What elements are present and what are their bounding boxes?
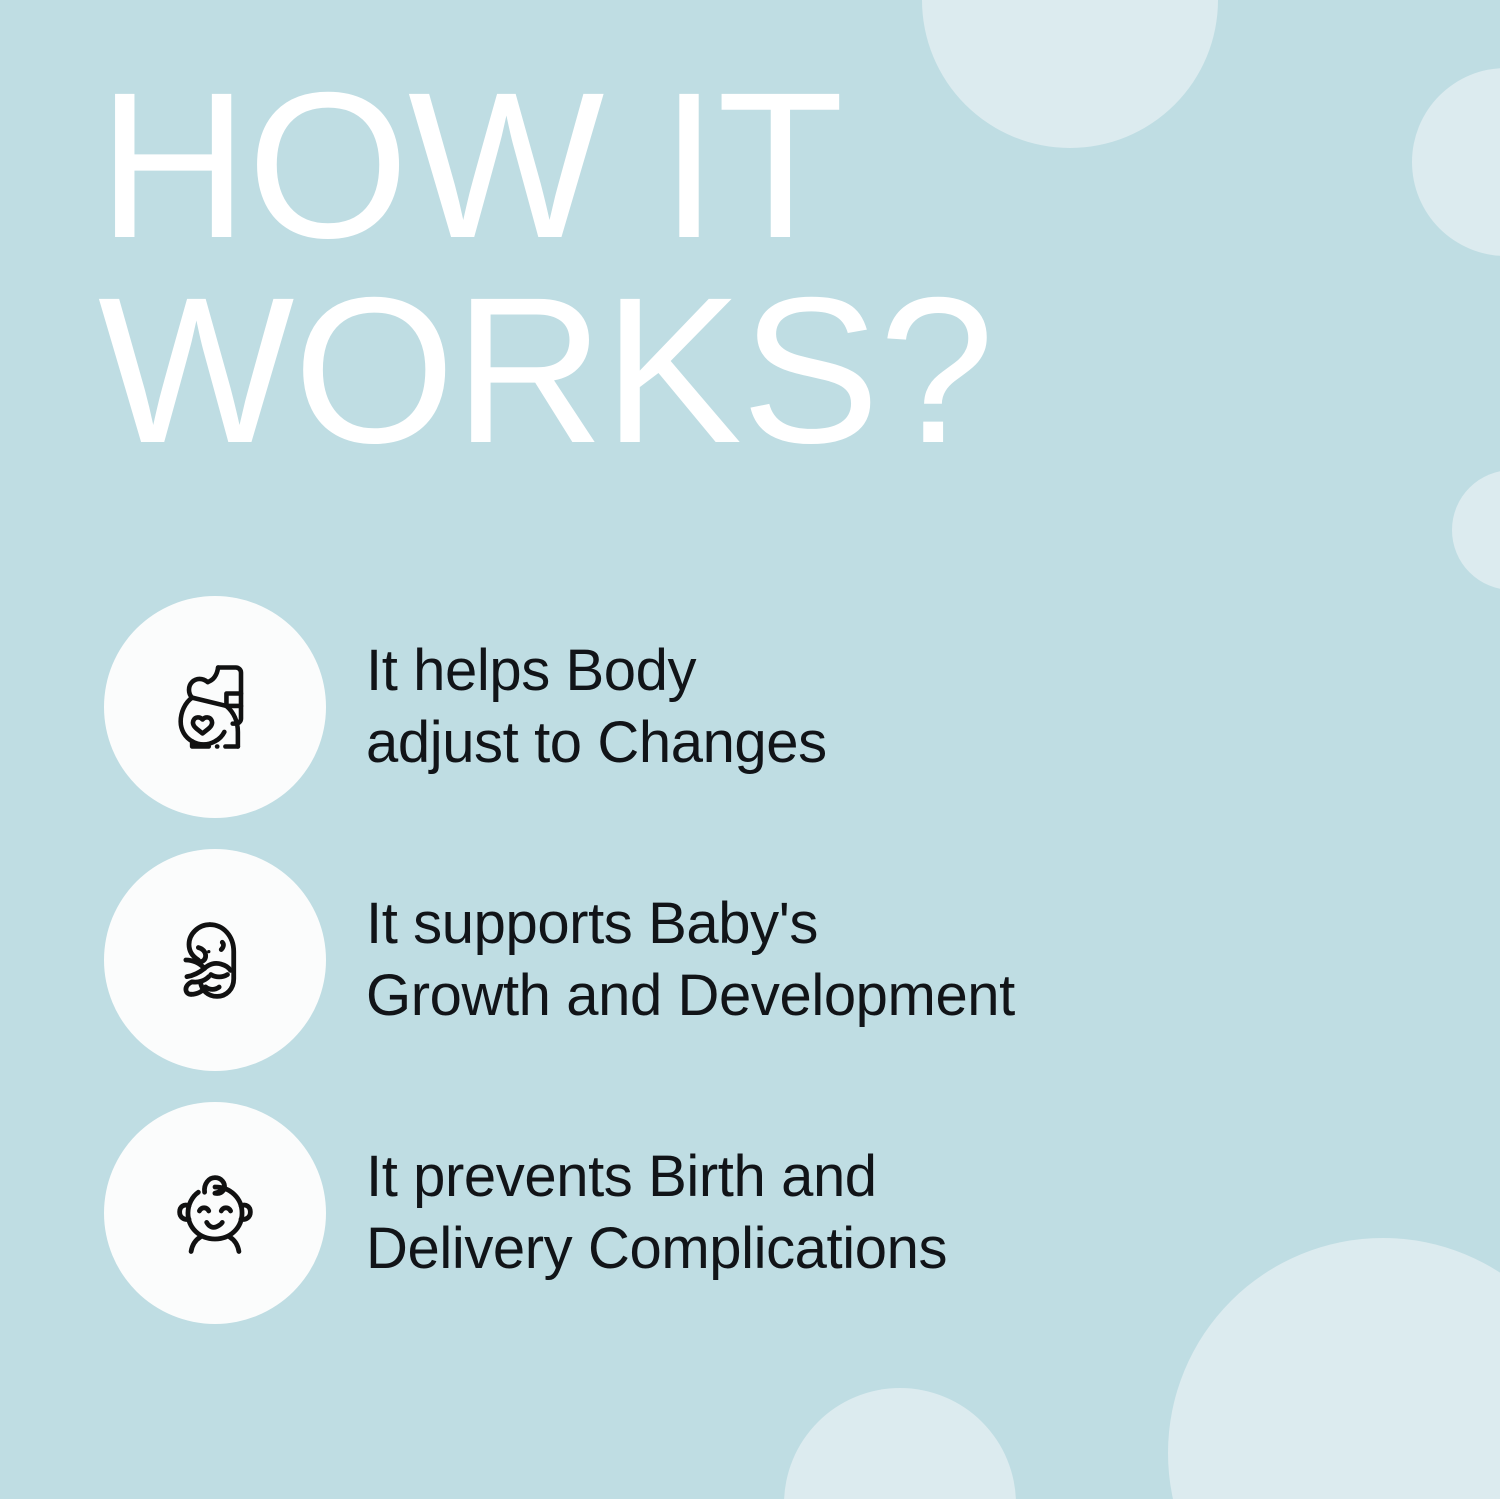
list-item: It supports Baby's Growth and Developmen…: [104, 849, 1444, 1071]
list-item-label: It prevents Birth and Delivery Complicat…: [366, 1141, 947, 1286]
icon-badge: [104, 596, 326, 818]
list-item: It helps Body adjust to Changes: [104, 596, 1444, 818]
decorative-circle-right-upper: [1412, 68, 1500, 256]
decorative-circle-right-middle: [1452, 470, 1500, 590]
fetus-icon: [163, 908, 267, 1012]
feature-list: It helps Body adjust to Changes: [104, 596, 1444, 1324]
list-item: It prevents Birth and Delivery Complicat…: [104, 1102, 1444, 1324]
icon-badge: [104, 1102, 326, 1324]
icon-badge: [104, 849, 326, 1071]
pregnant-woman-icon: [163, 655, 267, 759]
baby-face-icon: [163, 1161, 267, 1265]
list-item-label: It helps Body adjust to Changes: [366, 635, 827, 780]
page-title: HOW IT WORKS?: [98, 64, 998, 474]
list-item-label: It supports Baby's Growth and Developmen…: [366, 888, 1015, 1033]
promo-graphic: HOW IT WORKS?: [0, 0, 1500, 1499]
decorative-circle-bottom-left: [784, 1388, 1016, 1499]
